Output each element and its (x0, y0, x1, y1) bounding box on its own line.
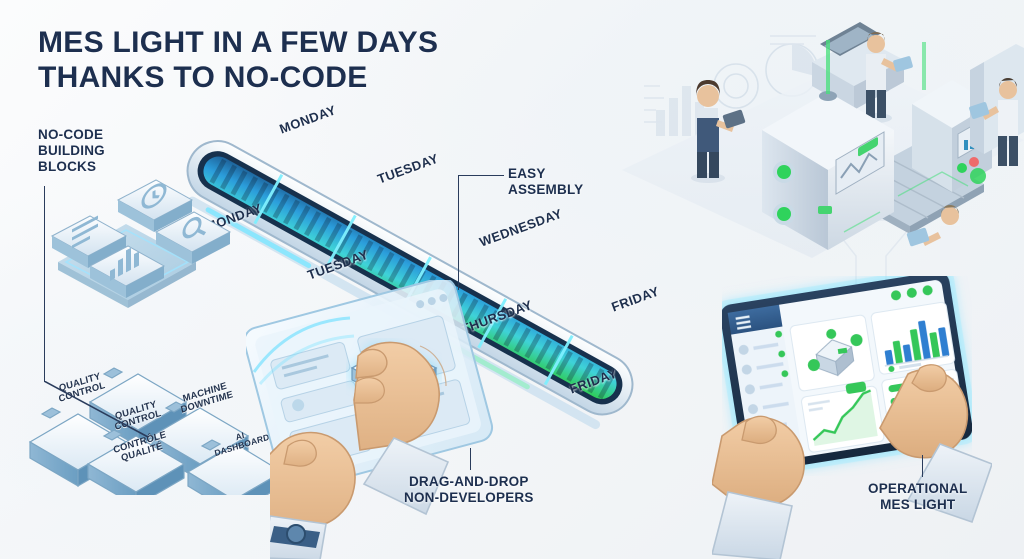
callout-assembly-line1: EASY (508, 166, 583, 182)
callout-easy-assembly: EASY ASSEMBLY (508, 166, 583, 198)
leader-line-drag-drop (470, 448, 471, 470)
leader-line-blocks-vertical (44, 186, 45, 382)
title-line-1: MES LIGHT IN A FEW DAYS (38, 26, 518, 61)
callout-operational-mes: OPERATIONAL MES LIGHT (868, 481, 967, 513)
leader-line-operational (922, 455, 923, 477)
left-hand (270, 433, 355, 559)
leader-line-blocks-diagonal (44, 381, 150, 439)
callout-blocks-line2: BUILDING (38, 143, 105, 159)
title-line-2: THANKS TO NO-CODE (38, 61, 518, 96)
callout-assembly-line2: ASSEMBLY (508, 182, 583, 198)
page-title: MES LIGHT IN A FEW DAYS THANKS TO NO-COD… (38, 26, 518, 96)
callout-drag-line1: DRAG-AND-DROP (404, 474, 534, 490)
leader-line-assembly-vertical (458, 175, 459, 290)
infographic-canvas: MONDAYMONDAYTUESDAYTUESDAYWEDNESDAYTHURS… (0, 0, 1024, 559)
hands-holding-tablet (712, 360, 992, 559)
callout-drag-line2: NON-DEVELOPERS (404, 490, 534, 506)
callout-blocks-line1: NO-CODE (38, 127, 105, 143)
left-hand-tablet (712, 416, 804, 559)
leader-line-assembly-horizontal (458, 175, 504, 176)
no-code-icon-platform (46, 170, 236, 310)
callout-drag-and-drop: DRAG-AND-DROP NON-DEVELOPERS (404, 474, 534, 506)
callout-oper-line1: OPERATIONAL (868, 481, 967, 497)
callout-oper-line2: MES LIGHT (868, 497, 967, 513)
hands-drag-and-drop (270, 330, 500, 559)
callout-blocks-line3: BLOCKS (38, 159, 105, 175)
callout-building-blocks: NO-CODE BUILDING BLOCKS (38, 127, 105, 176)
